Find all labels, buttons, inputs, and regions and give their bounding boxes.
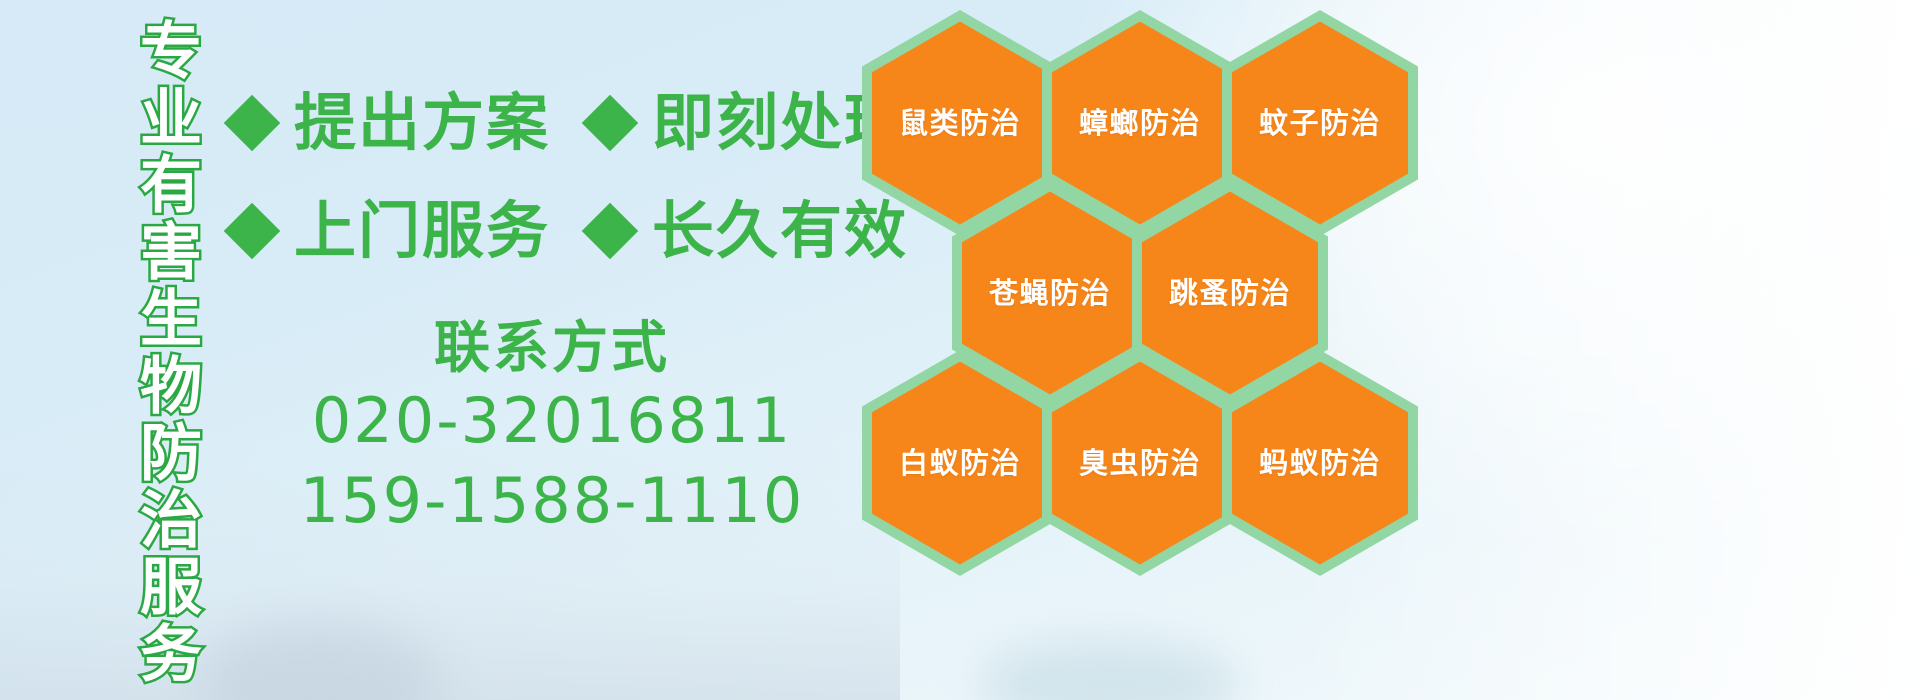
slogan-item-3: 上门服务 [232, 200, 550, 262]
hexagon-inner: 蟑螂防治 [1052, 22, 1228, 225]
contact-block: 联系方式 020-32016811 159-1588-1110 [232, 318, 872, 542]
hexagon-inner: 蚂蚁防治 [1232, 362, 1408, 565]
background-blur-blob-left [200, 620, 440, 700]
slogan-label: 上门服务 [294, 200, 550, 262]
service-label: 蚂蚁防治 [1259, 449, 1381, 478]
diamond-icon [224, 95, 281, 152]
slogan-row-2: 上门服务 长久有效 [232, 200, 908, 262]
diamond-icon [582, 95, 639, 152]
slogan-row-1: 提出方案 即刻处理 [232, 92, 908, 154]
pest-control-banner: 专业有害生物防治服务 提出方案 即刻处理 上门服务 长久有效 联系方式 020-… [0, 0, 1920, 700]
hexagon-inner: 跳蚤防治 [1142, 192, 1318, 395]
hexagon-inner: 苍蝇防治 [962, 192, 1138, 395]
service-label: 跳蚤防治 [1169, 279, 1291, 308]
contact-heading: 联系方式 [232, 318, 872, 381]
hexagon-inner: 鼠类防治 [872, 22, 1048, 225]
diamond-icon [224, 203, 281, 260]
slogan-label: 提出方案 [294, 92, 550, 154]
diamond-icon [582, 203, 639, 260]
service-hexagon-grid: 鼠类防治 蟑螂防治 蚊子防治 苍蝇防治 跳蚤防治 白蚁防治 [856, 0, 1476, 700]
service-label: 鼠类防治 [899, 109, 1021, 138]
hexagon-inner: 蚊子防治 [1232, 22, 1408, 225]
contact-phone-mobile[interactable]: 159-1588-1110 [232, 461, 872, 542]
service-label: 白蚁防治 [899, 449, 1021, 478]
hexagon-inner: 白蚁防治 [872, 362, 1048, 565]
slogan-item-1: 提出方案 [232, 92, 550, 154]
contact-phone-landline[interactable]: 020-32016811 [232, 381, 872, 462]
service-label: 蚊子防治 [1259, 109, 1381, 138]
vertical-headline: 专业有害生物防治服务 [112, 18, 196, 678]
hexagon-inner: 臭虫防治 [1052, 362, 1228, 565]
service-label: 蟑螂防治 [1079, 109, 1201, 138]
service-label: 苍蝇防治 [989, 279, 1111, 308]
service-label: 臭虫防治 [1079, 449, 1201, 478]
